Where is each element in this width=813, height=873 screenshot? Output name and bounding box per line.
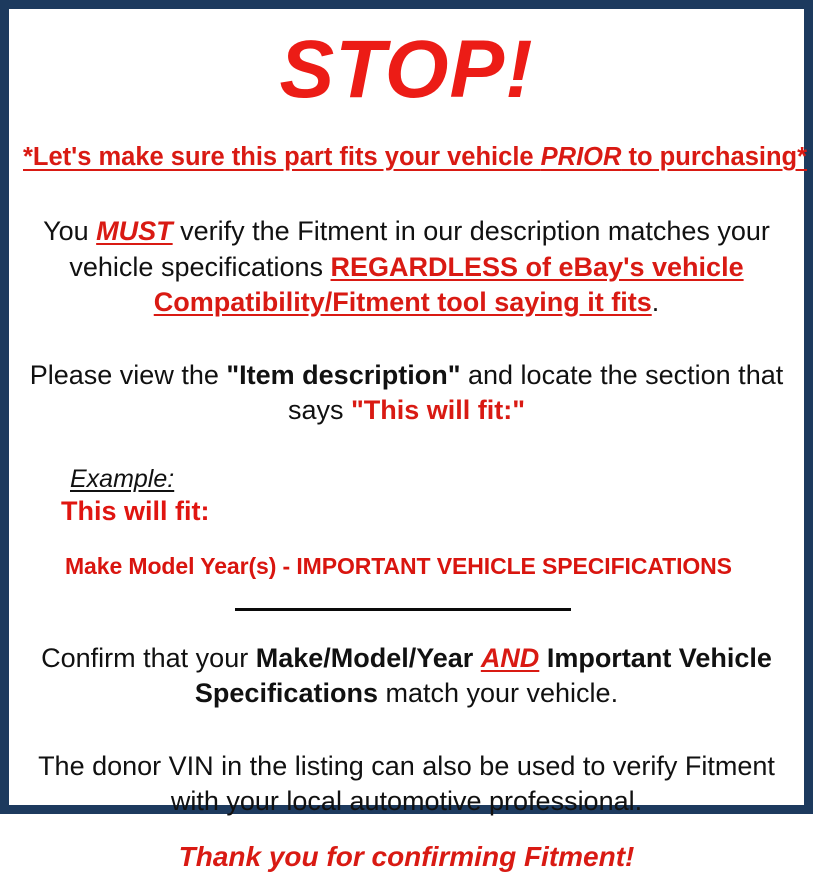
confirm-seg-1: Confirm that your	[41, 643, 256, 673]
fitment-notice-content: STOP! *Let's make sure this part fits yo…	[9, 9, 804, 805]
example-this-will-fit: This will fit:	[61, 496, 790, 527]
thank-you-line: Thank you for confirming Fitment!	[23, 841, 790, 873]
verify-seg-5: .	[652, 287, 660, 317]
section-divider	[235, 608, 571, 611]
divider-wrapper	[23, 608, 790, 611]
and-emphasis: AND	[481, 643, 540, 673]
paragraph-confirm-match: Confirm that your Make/Model/Year AND Im…	[23, 641, 790, 711]
subtitle-prefix: *Let's make sure this part fits your veh…	[23, 143, 541, 171]
paragraph-verify-fitment: You MUST verify the Fitment in our descr…	[23, 214, 790, 319]
example-label-row: Example:	[61, 465, 790, 494]
stop-headline: STOP!	[23, 27, 790, 113]
item-description-label: "Item description"	[226, 360, 460, 390]
example-label: Example:	[70, 465, 174, 494]
description-seg-1: Please view the	[30, 360, 227, 390]
subtitle-emphasis-prior: PRIOR	[541, 143, 622, 171]
must-emphasis: MUST	[96, 216, 173, 246]
example-spec-line: Make Model Year(s) - IMPORTANT VEHICLE S…	[65, 553, 790, 580]
subtitle-suffix: to purchasing*	[621, 143, 807, 171]
paragraph-donor-vin: The donor VIN in the listing can also be…	[23, 749, 790, 819]
this-will-fit-quote: "This will fit:"	[351, 395, 525, 425]
confirm-seg-5: match your vehicle.	[378, 678, 618, 708]
verify-seg-1: You	[43, 216, 96, 246]
fitment-notice-frame: STOP! *Let's make sure this part fits yo…	[0, 0, 813, 814]
paragraph-item-description: Please view the "Item description" and l…	[23, 358, 790, 428]
subtitle-line: *Let's make sure this part fits your veh…	[23, 143, 790, 172]
example-block: Example: This will fit: Make Model Year(…	[23, 465, 790, 580]
make-model-year-label: Make/Model/Year	[256, 643, 481, 673]
